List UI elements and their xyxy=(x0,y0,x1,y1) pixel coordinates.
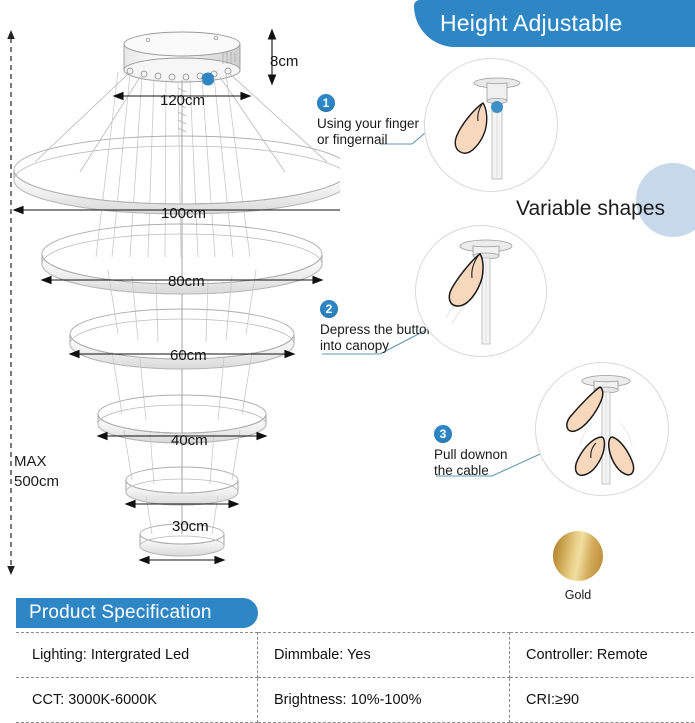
step-1-photo-inset xyxy=(424,58,558,192)
dimension-label-canopy-height: 8cm xyxy=(270,53,298,70)
specification-table: Lighting: Intergrated Led Dimmbale: Yes … xyxy=(16,632,695,723)
step-2-text: Depress the button into canopy xyxy=(320,322,434,354)
header-title: Height Adjustable xyxy=(440,10,622,37)
release-button xyxy=(202,73,215,86)
step-2-badge: 2 xyxy=(320,300,338,318)
step-3-callout: 3 Pull downon the cable xyxy=(434,425,508,479)
step-1-badge: 1 xyxy=(317,94,335,112)
dimension-label-ring-3: 80cm xyxy=(168,273,205,290)
spec-title: Product Specification xyxy=(29,602,212,624)
spec-cell-dimmable: Dimmbale: Yes xyxy=(258,633,510,678)
spec-cell-cri: CRI:≥90 xyxy=(510,678,695,723)
spec-cell-brightness: Brightness: 10%-100% xyxy=(258,678,510,723)
step-1-text: Using your finger or fingernail xyxy=(317,116,419,148)
color-swatch-gold[interactable] xyxy=(553,531,603,581)
step-1-callout: 1 Using your finger or fingernail xyxy=(317,94,419,148)
variable-shapes-title: Variable shapes xyxy=(516,197,665,221)
infographic-canvas: Height Adjustable Variable shapes MAX 50… xyxy=(0,0,695,708)
spec-cell-cct: CCT: 3000K-6000K xyxy=(16,678,258,723)
spec-cell-lighting: Lighting: Intergrated Led xyxy=(16,633,258,678)
dimension-label-ring-6: 30cm xyxy=(172,518,209,535)
dimension-label-ring-2: 100cm xyxy=(161,205,206,222)
header-banner: Height Adjustable xyxy=(414,0,695,47)
spec-cell-controller: Controller: Remote xyxy=(510,633,695,678)
step-3-text: Pull downon the cable xyxy=(434,447,508,479)
table-row: CCT: 3000K-6000K Brightness: 10%-100% CR… xyxy=(16,678,695,723)
table-row: Lighting: Intergrated Led Dimmbale: Yes … xyxy=(16,633,695,678)
spec-banner: Product Specification xyxy=(16,598,258,628)
dimension-label-ring-1: 120cm xyxy=(160,92,205,109)
dimension-label-ring-5: 40cm xyxy=(171,432,208,449)
color-swatch-label: Gold xyxy=(552,588,604,602)
step-3-photo-inset xyxy=(535,362,669,496)
step-3-badge: 3 xyxy=(434,425,452,443)
step-2-photo-inset xyxy=(415,225,547,357)
dimension-label-ring-4: 60cm xyxy=(170,347,207,364)
